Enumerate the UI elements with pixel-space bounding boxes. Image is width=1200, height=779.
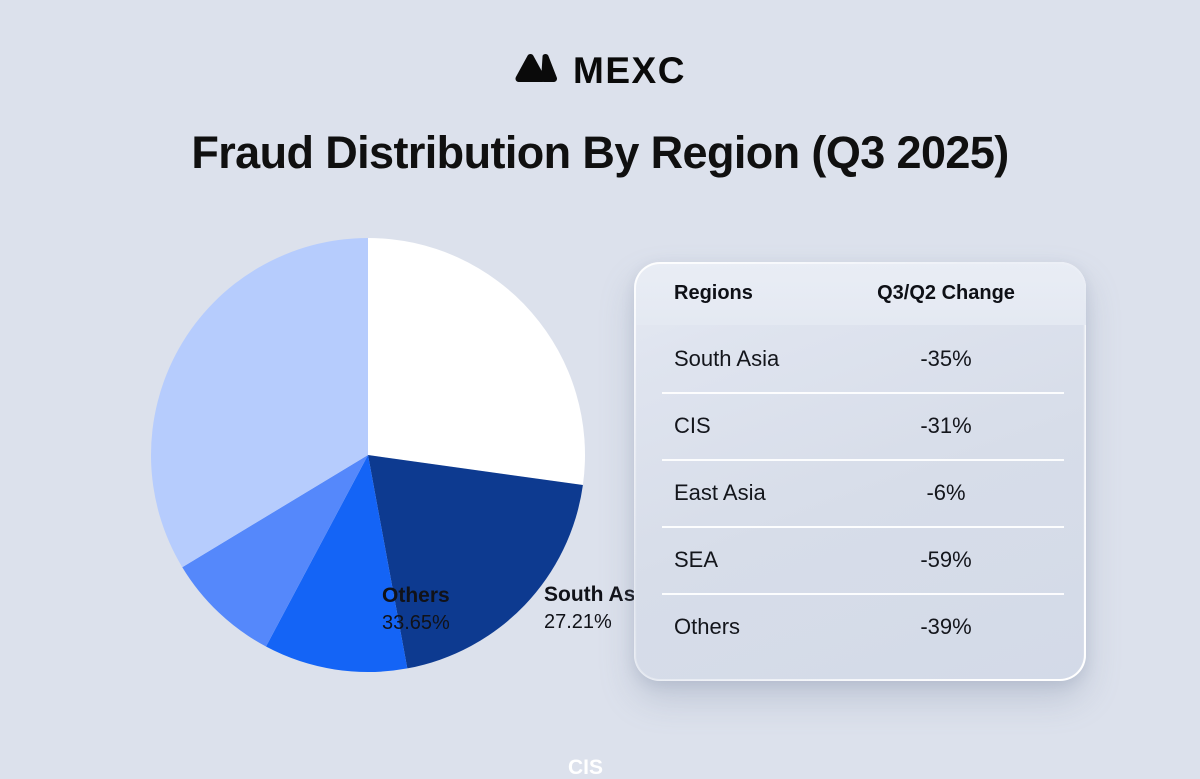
change-table-card: Regions Q3/Q2 Change South Asia-35%CIS-3… xyxy=(634,262,1086,681)
table-cell-change: -39% xyxy=(844,614,1086,640)
table-cell-change: -35% xyxy=(844,346,1086,372)
table-cell-region: South Asia xyxy=(634,346,844,372)
mexc-double-triangle-icon xyxy=(514,53,558,89)
pie-slice-south-asia xyxy=(368,238,585,485)
table-body: South Asia-35%CIS-31%East Asia-6%SEA-59%… xyxy=(634,325,1086,660)
pie-chart-svg xyxy=(150,237,586,673)
mexc-wordmark: MEXC xyxy=(573,52,686,89)
brand-lockup: MEXC xyxy=(0,52,1200,89)
table-row: SEA-59% xyxy=(634,526,1086,593)
table-row: Others-39% xyxy=(634,593,1086,660)
table-cell-region: SEA xyxy=(634,547,844,573)
pie-label-cis: CIS 19.89% xyxy=(568,755,636,779)
table-row: CIS-31% xyxy=(634,392,1086,459)
pie-label-cis-name: CIS xyxy=(568,755,636,779)
table-cell-region: East Asia xyxy=(634,480,844,506)
table-row: South Asia-35% xyxy=(634,325,1086,392)
table-header-change: Q3/Q2 Change xyxy=(844,282,1086,305)
table-cell-change: -31% xyxy=(844,413,1086,439)
table-row: East Asia-6% xyxy=(634,459,1086,526)
table-header-regions: Regions xyxy=(634,282,844,305)
table-header-row: Regions Q3/Q2 Change xyxy=(634,262,1086,325)
table-cell-region: Others xyxy=(634,614,844,640)
table-cell-change: -6% xyxy=(844,480,1086,506)
infographic-page: MEXC Fraud Distribution By Region (Q3 20… xyxy=(0,0,1200,779)
table-cell-change: -59% xyxy=(844,547,1086,573)
table-cell-region: CIS xyxy=(634,413,844,439)
pie-chart: South Asia 27.21% CIS 19.89% East Asia 1… xyxy=(150,237,586,673)
page-title: Fraud Distribution By Region (Q3 2025) xyxy=(0,128,1200,178)
